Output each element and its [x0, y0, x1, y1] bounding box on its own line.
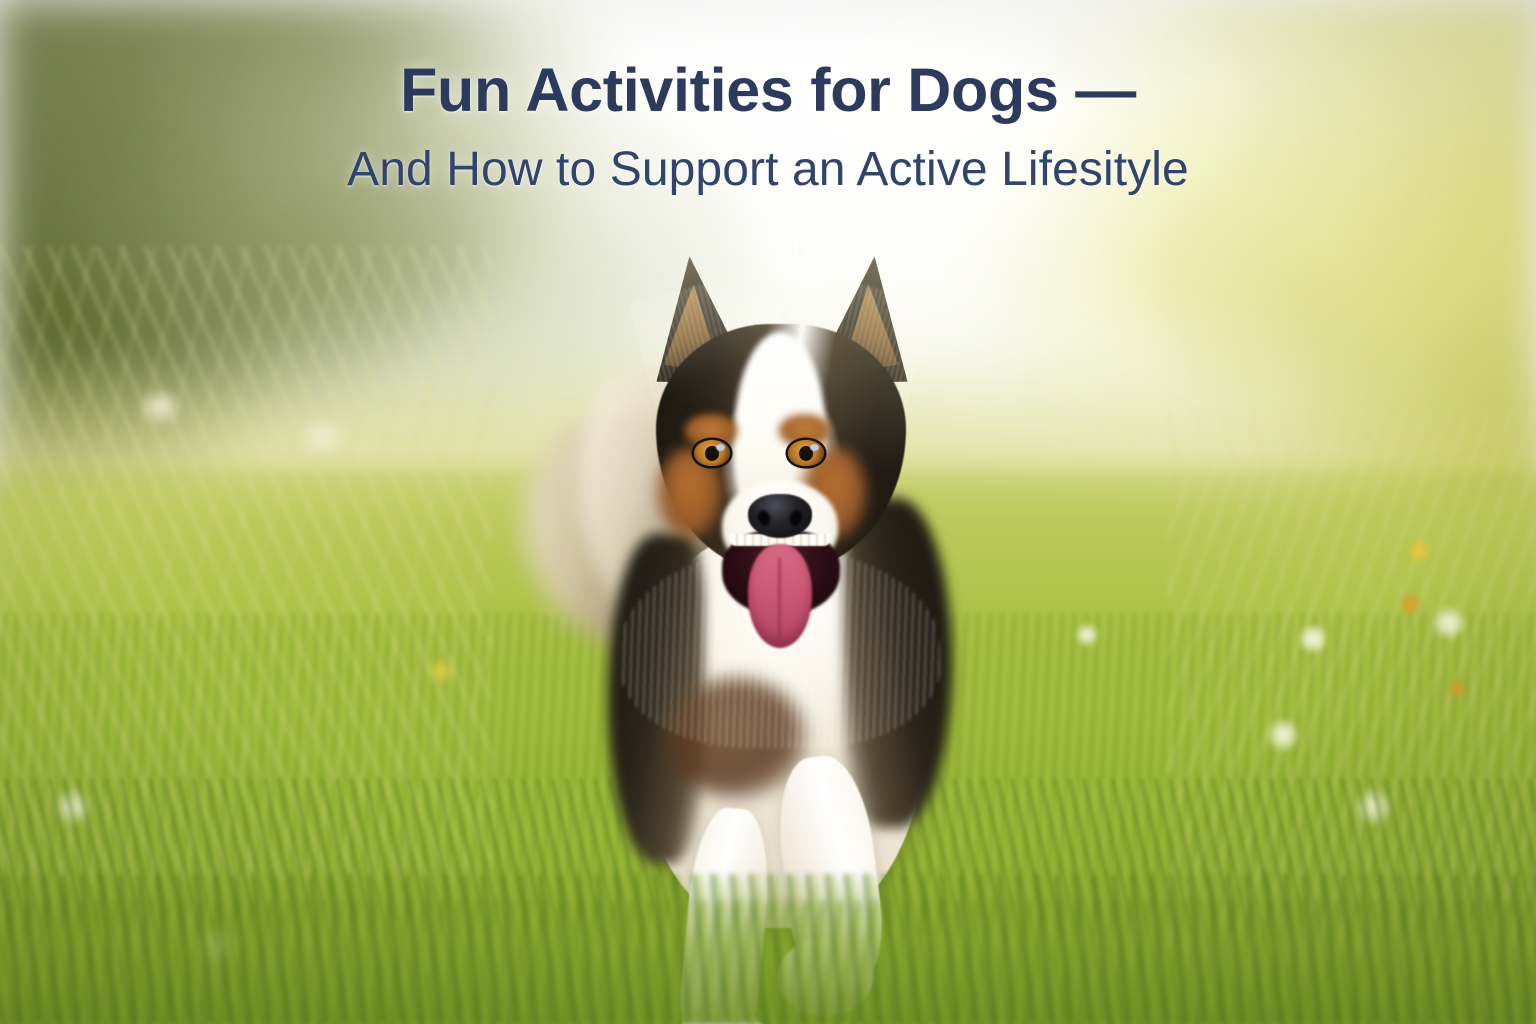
- banner-title: Fun Activities for Dogs —: [0, 58, 1536, 123]
- headline-block: Fun Activities for Dogs — And How to Sup…: [0, 58, 1536, 196]
- banner-subtitle: And How to Support an Active Lifesityle: [0, 145, 1536, 196]
- hero-banner: Fun Activities for Dogs — And How to Sup…: [0, 0, 1536, 1024]
